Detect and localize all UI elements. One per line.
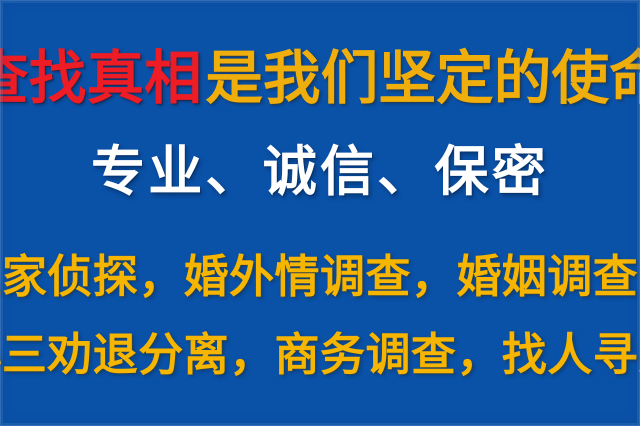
headline-gold-text: 是我们坚定的使命 [206,49,640,107]
promo-banner: 查找真相是我们坚定的使命 专业、诚信、保密 私家侦探，婚外情调查，婚姻调查， 小… [0,0,640,426]
services-line-2: 小三劝退分离，商务调查，找人寻人 [0,326,640,382]
headline-red-text: 查找真相 [0,49,202,107]
headline-line: 查找真相是我们坚定的使命 [0,44,640,112]
services-line-1: 私家侦探，婚外情调查，婚姻调查， [0,248,640,304]
company-values-line: 专业、诚信、保密 [0,141,640,203]
